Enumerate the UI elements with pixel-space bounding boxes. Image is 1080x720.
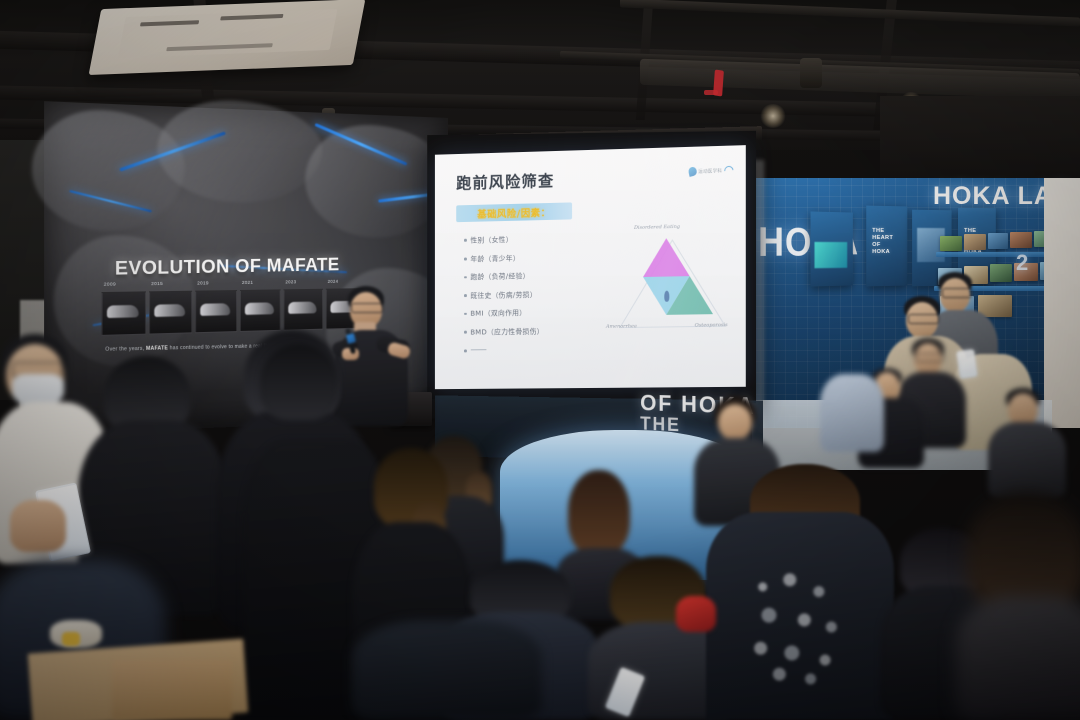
bullet-dot-icon bbox=[464, 276, 467, 279]
audience-member bbox=[988, 388, 1066, 498]
list-item: 既往史（伤病/劳损） bbox=[464, 287, 612, 299]
audience-member bbox=[230, 344, 360, 614]
wall-numeral: 2 bbox=[1016, 250, 1028, 276]
bullet-text: BMD（应力性骨损伤） bbox=[470, 326, 543, 337]
ceiling-ac-unit bbox=[89, 0, 366, 75]
list-item: BMI（双向作用） bbox=[464, 306, 612, 318]
slide-section-banner: 基础风险/因素： bbox=[456, 202, 572, 222]
mafate-subline-a: Over the years, bbox=[105, 346, 146, 353]
triad-label-right: Osteoporosis bbox=[695, 322, 728, 329]
hanging-panel: THE HEART OF HOKA bbox=[866, 206, 907, 287]
bullet-dot-icon bbox=[464, 313, 467, 316]
bullet-text: 既往史（伤病/劳损） bbox=[470, 289, 536, 300]
eyeglasses bbox=[351, 303, 383, 313]
timeline-year: 2019 bbox=[197, 280, 208, 285]
panel-text-block: THE HEART OF HOKA bbox=[872, 228, 893, 256]
yellow-item bbox=[62, 632, 80, 646]
bullet-text: 性别（女性） bbox=[470, 234, 512, 245]
presentation-slide: 跑前风险筛查 运动医学科 基础风险/因素： 性别（女性） 年龄（青少年） 跑龄（… bbox=[435, 145, 746, 389]
timeline-year: 2009 bbox=[104, 281, 116, 286]
timeline-year: 2024 bbox=[328, 279, 339, 284]
slide-logo: 运动医学科 bbox=[688, 166, 733, 176]
bullet-text: 年龄（青少年） bbox=[470, 252, 520, 263]
hand bbox=[10, 500, 66, 552]
triad-segment-top bbox=[643, 238, 690, 277]
hair bbox=[568, 470, 630, 556]
slide-banner-text: 基础风险/因素： bbox=[477, 204, 550, 220]
bullet-dot-icon bbox=[464, 294, 467, 297]
bullet-text: 跑龄（负荷/经验） bbox=[470, 270, 529, 281]
slide-logo-text: 运动医学科 bbox=[698, 168, 722, 175]
triad-label-top: Disordered Eating bbox=[634, 224, 680, 231]
female-athlete-triad-diagram: Disordered Eating Amenorrhea Osteoporosi… bbox=[612, 208, 734, 341]
list-item: BMD（应力性骨损伤） bbox=[464, 325, 612, 337]
triad-label-left: Amenorrhea bbox=[606, 323, 637, 329]
bullet-dot-icon bbox=[464, 257, 467, 260]
list-item-continuation bbox=[464, 343, 612, 352]
logo-swirl-icon bbox=[722, 164, 735, 177]
slide-bullet-list: 性别（女性） 年龄（青少年） 跑龄（负荷/经验） 既往史（伤病/劳损） BMI（… bbox=[464, 231, 612, 360]
hanging-panel bbox=[811, 211, 853, 286]
audience-member-graphic-tshirt bbox=[706, 472, 894, 720]
timeline-year: 2015 bbox=[151, 281, 163, 286]
triad-runner-icon bbox=[664, 291, 669, 302]
triad-segment-right bbox=[666, 276, 713, 315]
foreground-person bbox=[352, 620, 542, 720]
slide-title: 跑前风险筛查 bbox=[456, 169, 554, 194]
bullet-rule bbox=[470, 349, 486, 350]
bullet-text: BMI（双向作用） bbox=[470, 307, 526, 318]
list-item: 跑龄（负荷/经验） bbox=[464, 269, 612, 282]
bullet-dot-icon bbox=[464, 349, 467, 352]
red-item bbox=[676, 596, 716, 632]
smartphone[interactable] bbox=[956, 349, 978, 379]
logo-mark-icon bbox=[687, 166, 697, 177]
list-item: 性别（女性） bbox=[464, 231, 612, 244]
cardboard-box bbox=[112, 660, 232, 720]
timeline-year: 2023 bbox=[285, 279, 296, 284]
bullet-dot-icon bbox=[464, 239, 467, 242]
audience-member bbox=[820, 352, 884, 452]
mafate-subline-bold: MAFATE bbox=[146, 345, 168, 352]
bullet-dot-icon bbox=[464, 331, 467, 334]
timeline-year: 2021 bbox=[242, 280, 253, 285]
list-item: 年龄（青少年） bbox=[464, 250, 612, 263]
foreground-person bbox=[956, 492, 1080, 720]
tshirt-graphic-print bbox=[744, 568, 848, 686]
track-spotlight bbox=[800, 58, 822, 88]
photo-scene: EVOLUTION OF MAFATE 2009 2015 2019 2021 … bbox=[0, 0, 1080, 720]
